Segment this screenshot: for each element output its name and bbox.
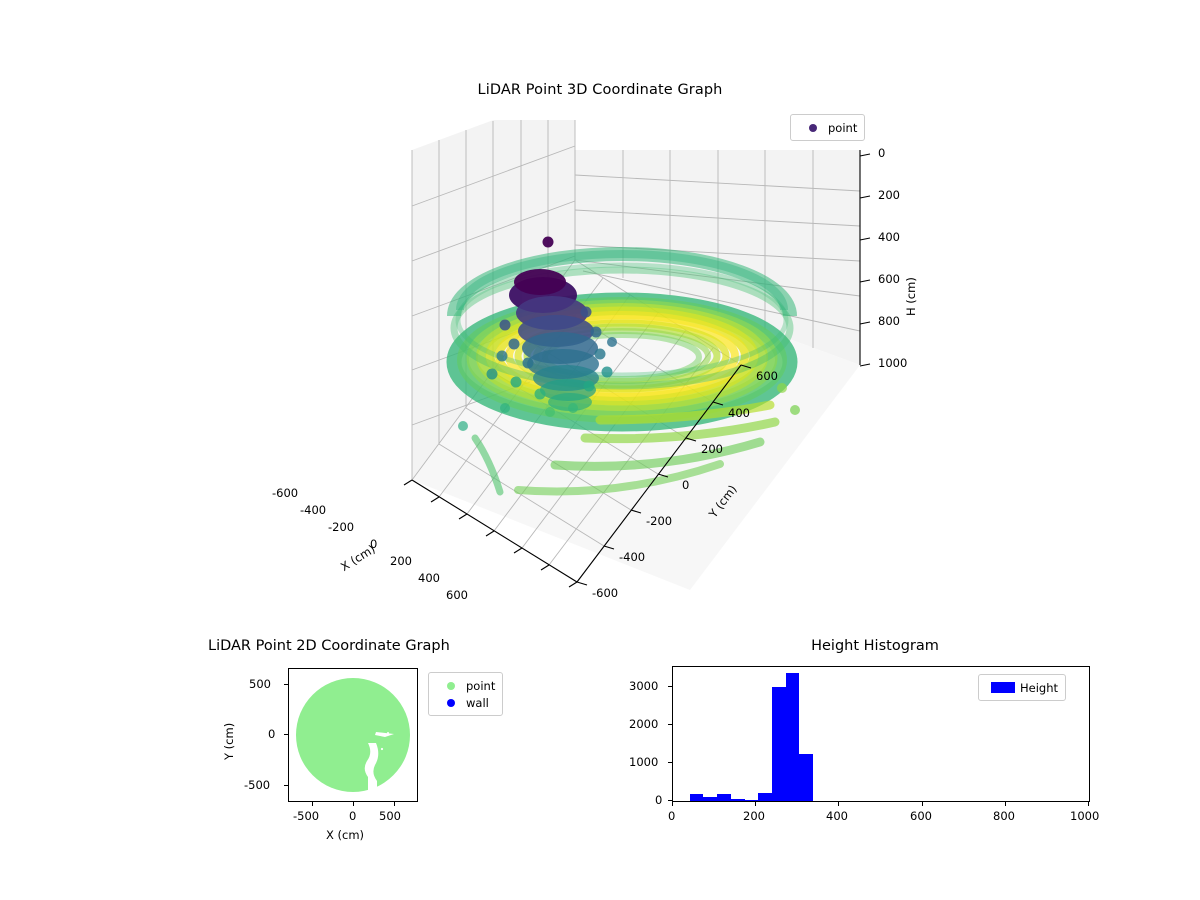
- plot2d-xtickmark-1: [353, 802, 354, 806]
- legend-label-height: Height: [1020, 681, 1058, 695]
- point-marker-icon: [798, 124, 828, 132]
- plot2d-legend[interactable]: point wall: [428, 672, 503, 716]
- plot3d-ztick-2: 400: [878, 230, 900, 244]
- figure-canvas: LiDAR Point 3D Coordinate Graph: [0, 0, 1200, 900]
- plot3d-ytick-5: 400: [728, 406, 750, 420]
- histogram-bar: [758, 793, 772, 801]
- hist-ytick-1: 1000: [629, 755, 658, 769]
- plot3d-axes[interactable]: -600 -400 -200 0 200 400 600 X (cm) -600…: [300, 120, 940, 640]
- plot3d-ztick-1: 200: [878, 188, 900, 202]
- plot3d-xtick-6: 600: [446, 588, 468, 602]
- plot3d-xtick-5: 400: [418, 571, 440, 585]
- legend-entry-height[interactable]: Height: [986, 679, 1058, 696]
- hist-ytick-3: 3000: [629, 679, 658, 693]
- plot3d-ztick-5: 1000: [878, 356, 907, 370]
- plot2d-axes[interactable]: [288, 668, 418, 802]
- histogram-bar: [690, 794, 704, 801]
- wall-marker-icon: [436, 699, 466, 707]
- plot2d-ytickmark-0: [284, 684, 288, 685]
- hist-xtick-3: 600: [910, 809, 932, 823]
- hist-xtickmark-1: [755, 802, 756, 806]
- height-patch-icon: [986, 682, 1020, 693]
- point-disk: [296, 678, 410, 792]
- plot3d-ytick-0: -600: [592, 586, 618, 600]
- point-marker-icon: [436, 682, 466, 690]
- plot2d-xtick-2: 500: [379, 809, 401, 823]
- histogram-legend[interactable]: Height: [978, 674, 1066, 701]
- hist-xtickmark-4: [1005, 802, 1006, 806]
- hist-xtickmark-0: [672, 802, 673, 806]
- plot2d-ytick-1: 0: [268, 727, 275, 741]
- plot3d-ytick-4: 200: [701, 442, 723, 456]
- histogram-bar: [703, 797, 717, 802]
- legend-entry-wall-2d[interactable]: wall: [436, 694, 495, 711]
- plot2d-xtick-0: -500: [293, 809, 319, 823]
- plot2d-ytickmark-1: [284, 734, 288, 735]
- hist-xtickmark-3: [922, 802, 923, 806]
- hist-xtickmark-5: [1088, 802, 1089, 806]
- hist-ytickmark-2: [668, 724, 672, 725]
- plot3d-ztick-3: 600: [878, 272, 900, 286]
- hist-xtick-5: 1000: [1070, 809, 1099, 823]
- histogram-bar: [745, 800, 759, 801]
- plot2d-ytick-0: 500: [249, 677, 271, 691]
- plot3d-ytick-6: 600: [756, 369, 778, 383]
- hist-xtick-0: 0: [668, 809, 675, 823]
- plot2d-svg: [289, 669, 417, 801]
- legend-entry-point[interactable]: point: [798, 119, 857, 136]
- plot3d-xtick-0: -600: [272, 486, 298, 500]
- hist-xtick-2: 400: [826, 809, 848, 823]
- histogram-title: Height Histogram: [660, 638, 1090, 654]
- plot3d-ytick-2: -200: [646, 514, 672, 528]
- hist-xtick-1: 200: [743, 809, 765, 823]
- histogram-bar: [786, 673, 800, 801]
- plot3d-zlabel: H (cm): [904, 277, 918, 316]
- plot3d-ztick-0: 0: [878, 146, 885, 160]
- plot3d-xtick-1: -400: [300, 503, 326, 517]
- plot2d-xtickmark-2: [394, 802, 395, 806]
- hist-ytickmark-0: [668, 800, 672, 801]
- histogram-bar: [731, 799, 745, 801]
- hist-ytick-0: 0: [655, 793, 662, 807]
- plot2d-ytickmark-2: [284, 785, 288, 786]
- plot2d-ylabel: Y (cm): [222, 723, 236, 760]
- hist-xtick-4: 800: [993, 809, 1015, 823]
- plot2d-xtick-1: 0: [349, 809, 356, 823]
- hist-ytick-2: 2000: [629, 717, 658, 731]
- plot3d-xtick-2: -200: [328, 520, 354, 534]
- plot3d-xtick-4: 200: [390, 554, 412, 568]
- plot3d-ytick-1: -400: [619, 550, 645, 564]
- histogram-bar: [717, 794, 731, 801]
- plot3d-ytick-3: 0: [682, 478, 689, 492]
- legend-label-wall-2d: wall: [466, 696, 489, 710]
- legend-entry-point-2d[interactable]: point: [436, 677, 495, 694]
- isolated-dark-point: [543, 237, 554, 248]
- plot3d-ztick-4: 800: [878, 314, 900, 328]
- plot3d-legend[interactable]: point: [790, 114, 865, 141]
- plot2d-title: LiDAR Point 2D Coordinate Graph: [208, 638, 450, 654]
- hist-ytickmark-3: [668, 686, 672, 687]
- histogram-bar: [799, 754, 813, 801]
- hist-xtickmark-2: [838, 802, 839, 806]
- plot3d-title: LiDAR Point 3D Coordinate Graph: [0, 82, 1200, 98]
- hist-ytickmark-1: [668, 762, 672, 763]
- legend-label-point: point: [828, 121, 857, 135]
- legend-label-point-2d: point: [466, 679, 495, 693]
- plot2d-xtickmark-0: [312, 802, 313, 806]
- plot2d-ytick-2: -500: [244, 778, 270, 792]
- histogram-bar: [772, 687, 786, 801]
- plot2d-xlabel: X (cm): [326, 828, 364, 842]
